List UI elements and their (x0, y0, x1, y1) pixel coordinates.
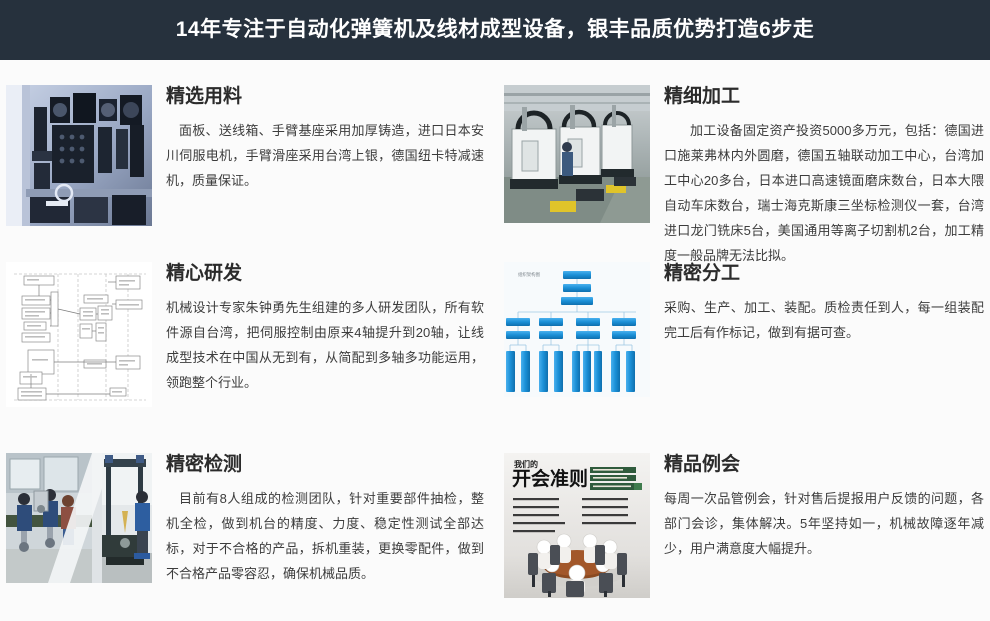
feature-body: 面板、送线箱、手臂基座采用加厚铸造，进口日本安川伺服电机，手臂滑座采用台湾上银，… (166, 118, 484, 193)
page-banner: 14年专注于自动化弹簧机及线材成型设备，银丰品质优势打造6步走 (0, 0, 990, 60)
inspection-team-photo (6, 453, 152, 583)
feature-text-material-selection: 精选用料 面板、送线箱、手臂基座采用加厚铸造，进口日本安川伺服电机，手臂滑座采用… (152, 85, 484, 193)
feature-title: 精密分工 (664, 262, 984, 286)
feature-material-selection: 精选用料 面板、送线箱、手臂基座采用加厚铸造，进口日本安川伺服电机，手臂滑座采用… (6, 85, 484, 226)
feature-body: 加工设备固定资产投资5000多万元，包括：德国进口施莱弗林内外圆磨，德国五轴联动… (664, 118, 984, 268)
svg-text:组织架构图: 组织架构图 (518, 271, 541, 278)
meeting-rules-poster: 我们的 开会准则 (504, 453, 650, 598)
machining-workshop-photo (504, 85, 650, 223)
feature-quality-meeting: 我们的 开会准则 (504, 453, 984, 598)
page-title: 14年专注于自动化弹簧机及线材成型设备，银丰品质优势打造6步走 (176, 0, 815, 60)
feature-body: 目前有8人组成的检测团队，针对重要部件抽检，整机全检，做到机台的精度、力度、稳定… (166, 486, 484, 586)
feature-research-development: 精心研发 机械设计专家朱钟勇先生组建的多人研发团队，所有软件源自台湾，把伺服控制… (6, 262, 484, 407)
feature-title: 精品例会 (664, 453, 984, 477)
promo-page: 14年专注于自动化弹簧机及线材成型设备，银丰品质优势打造6步走 (0, 0, 990, 621)
feature-title: 精选用料 (166, 85, 484, 109)
feature-precision-inspection: 精密检测 目前有8人组成的检测团队，针对重要部件抽检，整机全检，做到机台的精度、… (6, 453, 484, 586)
feature-text-precision-inspection: 精密检测 目前有8人组成的检测团队，针对重要部件抽检，整机全检，做到机台的精度、… (152, 453, 484, 586)
svg-text:我们的: 我们的 (514, 459, 538, 469)
feature-fine-machining: 精细加工 加工设备固定资产投资5000多万元，包括：德国进口施莱弗林内外圆磨，德… (504, 85, 984, 268)
feature-grid: 精选用料 面板、送线箱、手臂基座采用加厚铸造，进口日本安川伺服电机，手臂滑座采用… (0, 60, 990, 621)
feature-body: 机械设计专家朱钟勇先生组建的多人研发团队，所有软件源自台湾，把伺服控制由原来4轴… (166, 295, 484, 395)
feature-body: 采购、生产、加工、装配。质检责任到人，每一组装配完工后有作标记，做到有据可查。 (664, 295, 984, 345)
feature-text-division-of-labor: 精密分工 采购、生产、加工、装配。质检责任到人，每一组装配完工后有作标记，做到有… (650, 262, 984, 345)
control-flowchart-diagram (6, 262, 152, 407)
feature-title: 精心研发 (166, 262, 484, 286)
svg-text:开会准则: 开会准则 (512, 467, 588, 490)
organization-chart-diagram: 组织架构图 (504, 262, 650, 397)
precision-parts-photo (6, 85, 152, 226)
feature-text-quality-meeting: 精品例会 每周一次品管例会，针对售后提报用户反馈的问题，各部门会诊，集体解决。5… (650, 453, 984, 561)
feature-title: 精密检测 (166, 453, 484, 477)
feature-text-fine-machining: 精细加工 加工设备固定资产投资5000多万元，包括：德国进口施莱弗林内外圆磨，德… (650, 85, 984, 268)
feature-division-of-labor: 组织架构图 (504, 262, 984, 397)
feature-body: 每周一次品管例会，针对售后提报用户反馈的问题，各部门会诊，集体解决。5年坚持如一… (664, 486, 984, 561)
feature-title: 精细加工 (664, 85, 984, 109)
feature-text-research-development: 精心研发 机械设计专家朱钟勇先生组建的多人研发团队，所有软件源自台湾，把伺服控制… (152, 262, 484, 395)
